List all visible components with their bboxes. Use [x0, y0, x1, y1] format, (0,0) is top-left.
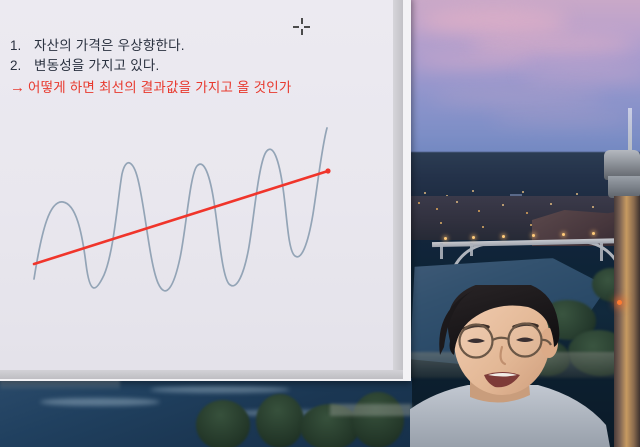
tree-cluster	[196, 400, 250, 447]
tree-cluster	[352, 392, 404, 447]
cloud	[490, 112, 630, 125]
cloud	[520, 66, 640, 82]
road	[330, 404, 412, 416]
cloud	[412, 52, 532, 70]
bridge-pier	[600, 243, 603, 261]
bridge-lamp	[502, 235, 505, 238]
water-foam	[40, 398, 160, 406]
whiteboard-drawing	[0, 0, 393, 370]
whiteboard-edge-bottom	[0, 370, 403, 379]
bridge-lamp	[532, 234, 535, 237]
bridge-lamp	[444, 237, 447, 240]
tree-cluster	[256, 394, 304, 447]
bridge-pier	[470, 243, 473, 256]
shared-whiteboard-window[interactable]: 1. 자산의 가격은 우상향한다. 2. 변동성을 가지고 있다. → 어떻게 …	[0, 0, 411, 381]
glasses-lens-right	[509, 324, 542, 357]
whiteboard-canvas[interactable]: 1. 자산의 가격은 우상향한다. 2. 변동성을 가지고 있다. → 어떻게 …	[0, 0, 393, 370]
screen-share-frame: 1. 자산의 가격은 우상향한다. 2. 변동성을 가지고 있다. → 어떻게 …	[0, 0, 640, 447]
presenter-webcam-overlay	[410, 285, 640, 447]
whiteboard-edge-right	[393, 0, 403, 370]
bridge-lamp	[472, 236, 475, 239]
bridge-pier	[440, 243, 443, 259]
water-foam	[150, 386, 290, 393]
tower-spire	[628, 108, 632, 152]
crosshair-cursor	[293, 18, 310, 35]
tower-lower-pod	[608, 176, 640, 198]
uptrend-endpoint-dot	[325, 168, 330, 173]
bridge-lamp	[562, 233, 565, 236]
volatility-wave	[34, 128, 327, 291]
cloud	[418, 8, 568, 34]
glasses-lens-left	[460, 325, 493, 358]
bridge-lamp	[592, 232, 595, 235]
cloud	[430, 90, 605, 105]
